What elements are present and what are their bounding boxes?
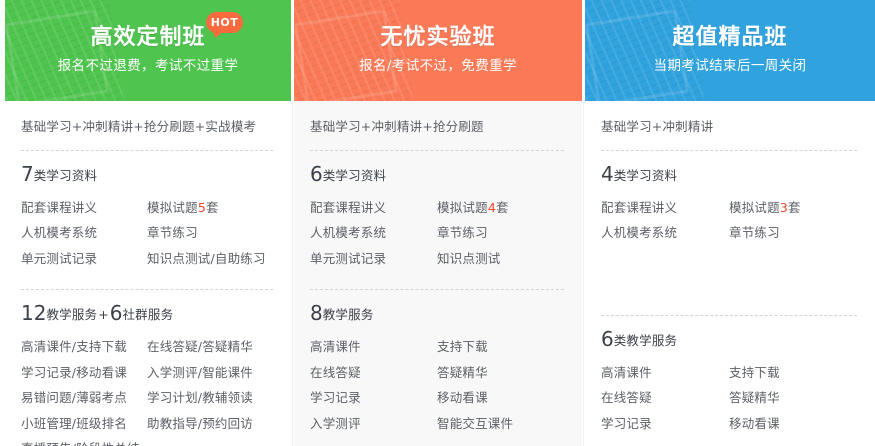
services-label-3: 类教学服务 xyxy=(614,333,678,348)
list-item: 人机模考系统 xyxy=(21,222,147,248)
divider xyxy=(21,150,273,151)
services-label-1: 教学服务 xyxy=(46,307,97,322)
list-item-highlight: 5 xyxy=(198,200,206,215)
list-item: 学习记录/移动看课 xyxy=(21,362,147,388)
list-item-label: 模拟试题 xyxy=(729,200,780,215)
list-item: 人机模考系统 xyxy=(310,222,437,248)
materials-count-3: 4 xyxy=(601,162,614,186)
materials-count-2: 6 xyxy=(310,162,323,186)
list-item: 易错问题/薄弱考点 xyxy=(21,387,147,413)
plan-title-2: 无忧实验班 xyxy=(380,27,495,49)
plan-body-3: 基础学习+冲刺精讲 4类学习资料 配套课程讲义 模拟试题3套 人机模考系统 章节… xyxy=(585,101,875,446)
list-item: 配套课程讲义 xyxy=(21,197,147,223)
list-item: 章节练习 xyxy=(729,222,857,248)
services-list-3: 高清课件 支持下载 在线答疑 答疑精华 学习记录 移动看课 xyxy=(601,362,857,439)
materials-list-2: 配套课程讲义 模拟试题4套 人机模考系统 章节练习 单元测试记录 知识点测试 xyxy=(310,197,564,274)
course-plan-comparison: HOT 高效定制班 报名不过退费，考试不过重学 基础学习+冲刺精讲+抢分刷题+实… xyxy=(0,0,875,446)
list-item: 配套课程讲义 xyxy=(601,197,729,223)
list-item: 小班管理/班级排名 xyxy=(21,413,147,439)
services-label2-1: 社群服务 xyxy=(122,307,173,322)
plan-lede-1: 基础学习+冲刺精讲+抢分刷题+实战模考 xyxy=(21,117,273,134)
list-item: 知识点测试/自助练习 xyxy=(147,248,273,274)
services-count2-1: 6 xyxy=(110,301,123,325)
plan-card-value-premium-class[interactable]: 超值精品班 当期考试结束后一周关闭 基础学习+冲刺精讲 4类学习资料 配套课程讲… xyxy=(583,0,875,446)
materials-list-1: 配套课程讲义 模拟试题5套 人机模考系统 章节练习 单元测试记录 知识点测试/自… xyxy=(21,197,273,274)
list-item-tail: 套 xyxy=(496,200,509,215)
list-item: 模拟试题4套 xyxy=(437,197,564,223)
services-list-2: 高清课件 支持下载 在线答疑 答疑精华 学习记录 移动看课 入学测评 智能交互课… xyxy=(310,336,564,438)
list-item: 模拟试题5套 xyxy=(147,197,273,223)
services-heading-2: 8教学服务 xyxy=(310,303,564,323)
list-item: 人机模考系统 xyxy=(601,222,729,248)
list-item: 单元测试记录 xyxy=(21,248,147,274)
materials-count-1: 7 xyxy=(21,162,34,186)
list-item-highlight: 3 xyxy=(780,200,788,215)
plan-subtitle-3: 当期考试结束后一周关闭 xyxy=(654,60,807,74)
hot-badge: HOT xyxy=(206,12,243,33)
list-item: 助教指导/预约回访 xyxy=(147,413,273,439)
panel-separator xyxy=(583,101,584,446)
divider xyxy=(310,150,564,151)
plan-subtitle-2: 报名/考试不过，免费重学 xyxy=(359,60,517,74)
list-item: 支持下载 xyxy=(437,336,564,362)
list-item: 在线答疑/答疑精华 xyxy=(147,336,273,362)
plan-header-1: HOT 高效定制班 报名不过退费，考试不过重学 xyxy=(5,0,291,101)
plan-title-1: 高效定制班 xyxy=(90,27,205,49)
list-item: 智能交互课件 xyxy=(437,413,564,439)
services-plus-1: + xyxy=(97,307,109,322)
plan-card-worry-free-experiment-class[interactable]: 无忧实验班 报名/考试不过，免费重学 基础学习+冲刺精讲+抢分刷题 6类学习资料… xyxy=(292,0,583,446)
list-item: 模拟试题3套 xyxy=(729,197,857,223)
services-count-3: 6 xyxy=(601,327,614,351)
plan-header-2: 无忧实验班 报名/考试不过，免费重学 xyxy=(294,0,582,101)
list-item: 章节练习 xyxy=(437,222,564,248)
list-item: 知识点测试 xyxy=(437,248,564,274)
list-item-label: 模拟试题 xyxy=(437,200,488,215)
plan-body-2: 基础学习+冲刺精讲+抢分刷题 6类学习资料 配套课程讲义 模拟试题4套 人机模考… xyxy=(294,101,582,446)
plan-lede-2: 基础学习+冲刺精讲+抢分刷题 xyxy=(310,117,564,134)
plan-header-3: 超值精品班 当期考试结束后一周关闭 xyxy=(585,0,875,101)
divider xyxy=(21,289,273,290)
list-item: 学习计划/教辅领读 xyxy=(147,387,273,413)
services-label-2: 教学服务 xyxy=(323,307,374,322)
list-item: 答疑精华 xyxy=(729,387,857,413)
services-count-2: 8 xyxy=(310,301,323,325)
list-item: 高清课件 xyxy=(601,362,729,388)
list-item-tail: 套 xyxy=(788,200,801,215)
materials-heading-3: 4类学习资料 xyxy=(601,164,857,184)
list-item: 移动看课 xyxy=(437,387,564,413)
plan-card-efficient-custom-class[interactable]: HOT 高效定制班 报名不过退费，考试不过重学 基础学习+冲刺精讲+抢分刷题+实… xyxy=(0,0,292,446)
materials-heading-2: 6类学习资料 xyxy=(310,164,564,184)
plan-subtitle-1: 报名不过退费，考试不过重学 xyxy=(58,60,239,74)
list-item: 在线答疑 xyxy=(310,362,437,388)
list-item: 高清课件 xyxy=(310,336,437,362)
list-item: 章节练习 xyxy=(147,222,273,248)
services-list-1: 高清课件/支持下载 在线答疑/答疑精华 学习记录/移动看课 入学测评/智能课件 … xyxy=(21,336,273,446)
list-item-highlight: 4 xyxy=(488,200,496,215)
materials-label-1: 类学习资料 xyxy=(34,168,98,183)
list-item: 在线答疑 xyxy=(601,387,729,413)
list-item-tail: 套 xyxy=(206,200,219,215)
list-item: 答疑精华 xyxy=(437,362,564,388)
panel-separator xyxy=(292,101,293,446)
divider xyxy=(310,289,564,290)
services-heading-3: 6类教学服务 xyxy=(601,329,857,349)
list-item: 配套课程讲义 xyxy=(310,197,437,223)
services-heading-1: 12教学服务+6社群服务 xyxy=(21,303,273,323)
plan-title-3: 超值精品班 xyxy=(672,27,787,49)
plan-lede-3: 基础学习+冲刺精讲 xyxy=(601,117,857,134)
list-item: 学习记录 xyxy=(601,413,729,439)
materials-label-2: 类学习资料 xyxy=(323,168,387,183)
list-item: 学习记录 xyxy=(310,387,437,413)
list-item: 直播预告/阶段性总结 xyxy=(21,438,147,446)
divider xyxy=(601,150,857,151)
plan-body-1: 基础学习+冲刺精讲+抢分刷题+实战模考 7类学习资料 配套课程讲义 模拟试题5套… xyxy=(5,101,291,446)
materials-label-3: 类学习资料 xyxy=(614,168,678,183)
list-item: 移动看课 xyxy=(729,413,857,439)
list-item: 支持下载 xyxy=(729,362,857,388)
list-item: 高清课件/支持下载 xyxy=(21,336,147,362)
list-item: 入学测评 xyxy=(310,413,437,439)
materials-heading-1: 7类学习资料 xyxy=(21,164,273,184)
divider xyxy=(601,315,857,316)
list-item: 入学测评/智能课件 xyxy=(147,362,273,388)
list-item: 单元测试记录 xyxy=(310,248,437,274)
materials-list-3: 配套课程讲义 模拟试题3套 人机模考系统 章节练习 xyxy=(601,197,857,248)
list-item-label: 模拟试题 xyxy=(147,200,198,215)
services-count-1: 12 xyxy=(21,301,46,325)
